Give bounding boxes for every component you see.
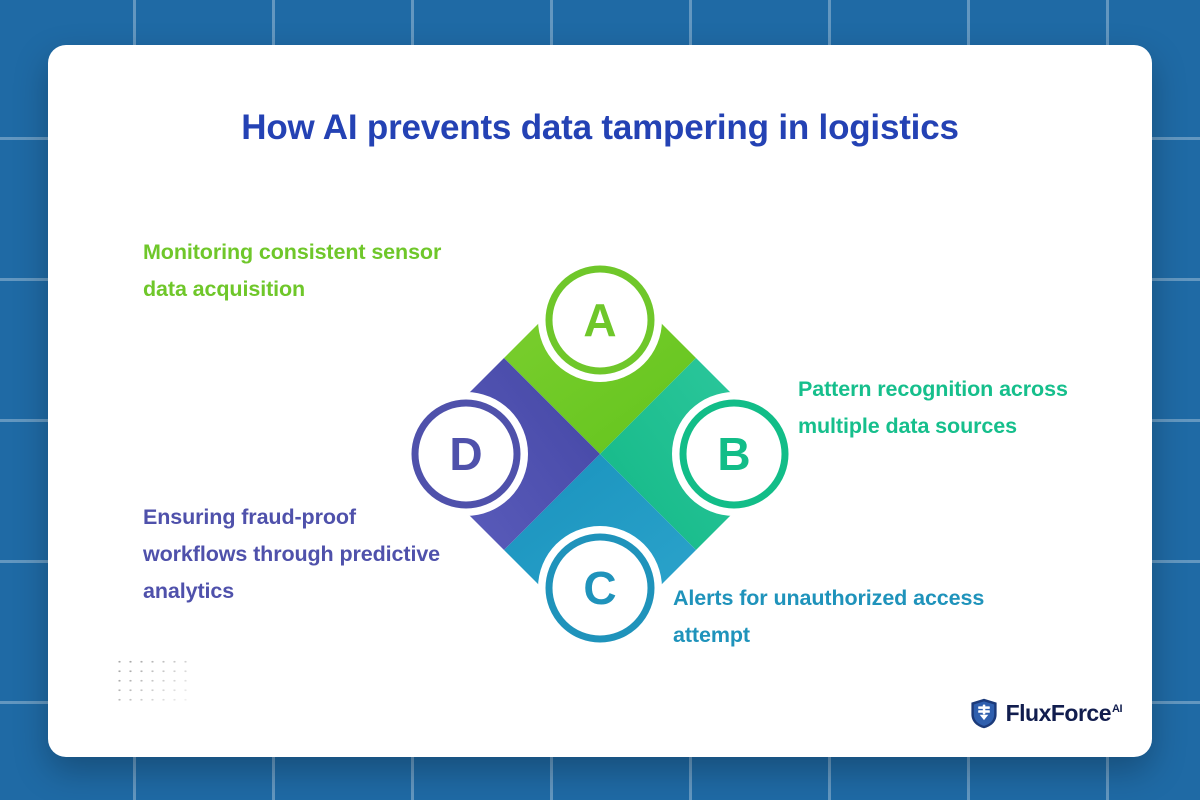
node-c[interactable]: C bbox=[542, 530, 658, 646]
node-d-letter: D bbox=[449, 428, 482, 480]
callout-label-c: Alerts for unauthorized access attempt bbox=[673, 580, 1003, 654]
node-a-letter: A bbox=[583, 294, 616, 346]
node-b[interactable]: B bbox=[676, 396, 792, 512]
callout-label-a: Monitoring consistent sensor data acquis… bbox=[143, 234, 473, 308]
logo-superscript: AI bbox=[1112, 703, 1122, 715]
brand-logo: FluxForceAI bbox=[970, 698, 1122, 729]
shield-icon bbox=[970, 698, 998, 729]
logo-name: FluxForce bbox=[1006, 700, 1111, 726]
node-a[interactable]: A bbox=[542, 262, 658, 378]
node-d[interactable]: D bbox=[408, 396, 524, 512]
dot-grid-decoration bbox=[114, 657, 192, 705]
callout-label-d: Ensuring fraud-proof workflows through p… bbox=[143, 499, 443, 610]
node-c-letter: C bbox=[583, 562, 616, 614]
infographic-card: How AI prevents data tampering in logist… bbox=[48, 45, 1152, 757]
node-b-letter: B bbox=[717, 428, 750, 480]
logo-wordmark: FluxForceAI bbox=[1006, 700, 1122, 727]
page-title: How AI prevents data tampering in logist… bbox=[48, 108, 1152, 148]
callout-label-b: Pattern recognition across multiple data… bbox=[798, 371, 1088, 445]
